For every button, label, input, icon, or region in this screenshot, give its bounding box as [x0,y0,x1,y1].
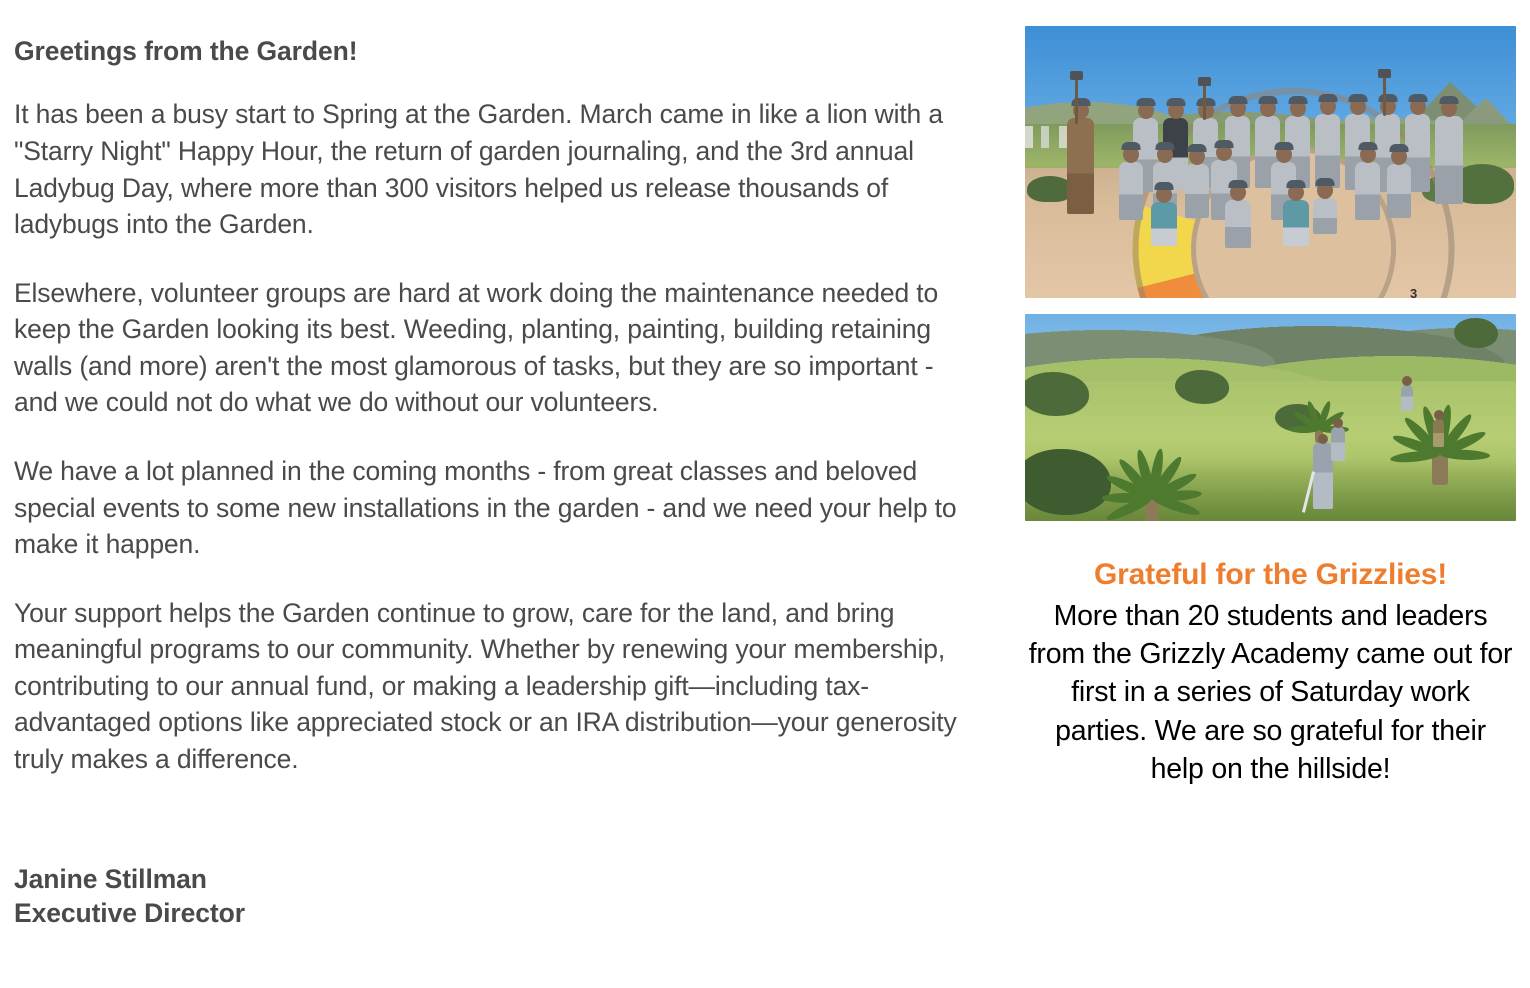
caption-heading: Grateful for the Grizzlies! [1025,557,1516,593]
photo-tool-rake [1075,78,1078,124]
photo-tool-trimmer [1383,76,1386,116]
sidebar-column: 8 7 6 5 4 3 [1000,0,1530,788]
photo-tool-shovel [1203,84,1206,120]
photo-person-kneeling [1313,198,1337,234]
letter-paragraph-1: It has been a busy start to Spring at th… [14,96,979,242]
letter-paragraph-4: Your support helps the Garden continue t… [14,595,979,778]
photo-bush [1454,318,1498,348]
photo-worker [1401,385,1413,411]
photo-worker [1331,427,1345,461]
photo-person-kneeling [1151,202,1177,246]
hillside-work-party-photo [1025,314,1516,521]
photo-person [1435,116,1463,204]
letter-paragraph-2: Elsewhere, volunteer groups are hard at … [14,275,979,421]
photo-palm-frond [1289,426,1319,433]
photo-person [1387,164,1411,218]
photo-person [1185,164,1209,218]
sundial-number-3: 3 [1410,286,1417,298]
photo-worker [1433,419,1444,447]
photo-person-kneeling [1225,200,1251,248]
photo-bush [1025,372,1089,416]
letter-heading: Greetings from the Garden! [14,36,1000,66]
photo-person-kneeling [1283,200,1309,246]
photo-person [1119,162,1143,220]
photo-bush [1175,370,1229,404]
photo-person [1355,162,1380,220]
caption-body: More than 20 students and leaders from t… [1025,597,1516,788]
photo-cycad-palm [1087,413,1217,521]
signature-block: Janine Stillman Executive Director [14,863,1000,930]
photo-worker-with-trimmer [1313,443,1333,509]
letter-column: Greetings from the Garden! It has been a… [0,0,1000,930]
signature-name: Janine Stillman [14,863,1000,896]
photo-people-group [1035,78,1506,220]
group-photo-volunteers-on-sundial: 8 7 6 5 4 3 [1025,26,1516,298]
photo-person [1067,118,1094,214]
newsletter-body: Greetings from the Garden! It has been a… [0,0,1530,988]
letter-paragraph-3: We have a lot planned in the coming mont… [14,453,979,563]
photo-caption-block: Grateful for the Grizzlies! More than 20… [1025,557,1516,788]
photo-person [1315,114,1340,188]
signature-title: Executive Director [14,897,1000,930]
